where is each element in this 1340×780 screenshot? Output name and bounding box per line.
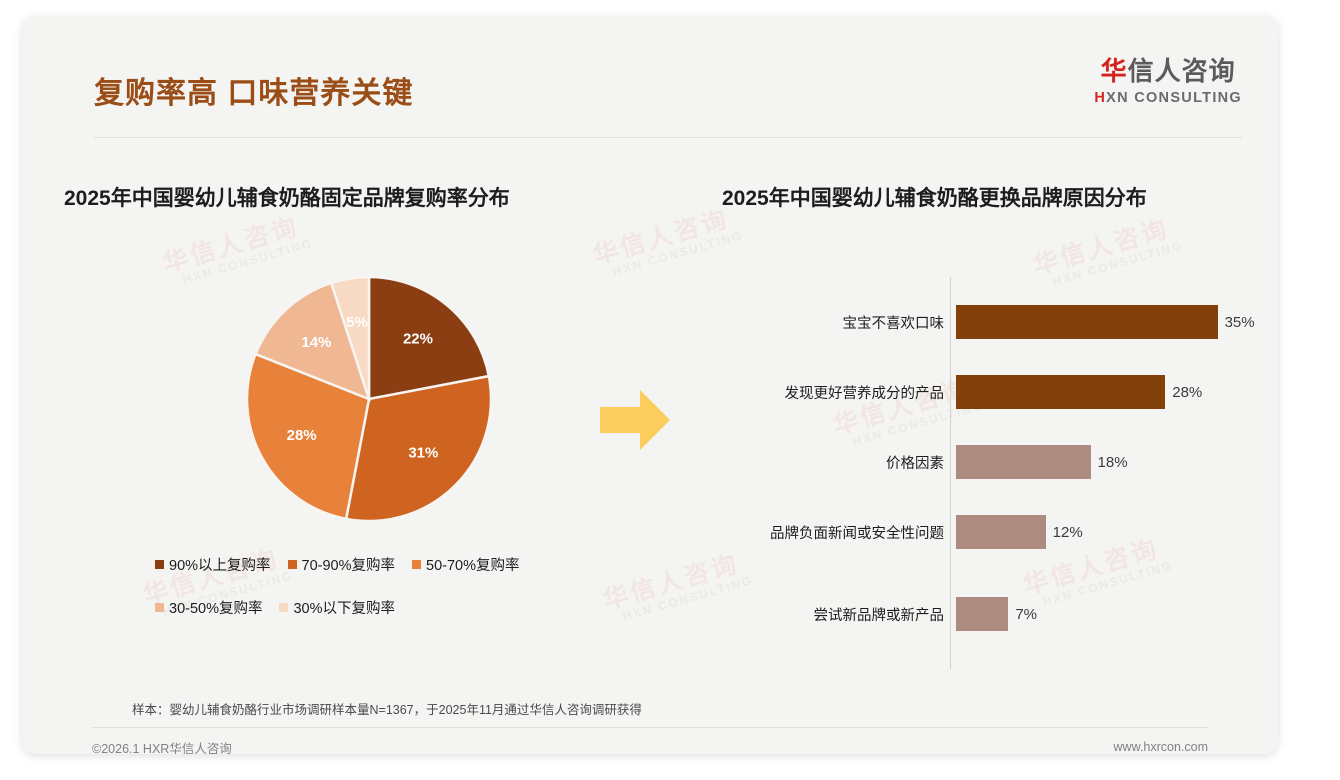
source-note: 样本：婴幼儿辅食奶酪行业市场调研样本量N=1367，于2025年11月通过华信人… — [132, 699, 642, 718]
pie-legend: 90%以上复购率70-90%复购率50-70%复购率 30-50%复购率30%以… — [155, 554, 585, 640]
legend-swatch — [288, 560, 297, 569]
bar-category-label: 发现更好营养成分的产品 — [722, 382, 950, 403]
company-logo: 华信人咨询 HXN CONSULTING — [1094, 58, 1242, 106]
legend-row: 30-50%复购率30%以下复购率 — [155, 597, 585, 618]
legend-label: 70-90%复购率 — [302, 554, 395, 575]
bar-category-label: 品牌负面新闻或安全性问题 — [722, 522, 950, 543]
bar-track: 35% — [956, 305, 1278, 339]
bar-track: 18% — [956, 445, 1278, 479]
pie-chart-svg: 22%31%28%14%5% — [244, 274, 494, 524]
bar-fill[interactable] — [956, 305, 1218, 339]
slide-canvas: 华信人咨询 HXN CONSULTING 华信人咨询 HXN CONSULTIN… — [22, 16, 1278, 754]
legend-item[interactable]: 50-70%复购率 — [412, 554, 519, 575]
legend-swatch — [412, 560, 421, 569]
pie-slice-label: 14% — [301, 334, 331, 351]
pie-chart: 22%31%28%14%5% — [244, 274, 494, 524]
bar-category-label: 价格因素 — [722, 452, 950, 473]
bar-track: 12% — [956, 515, 1278, 549]
bar-chart: 宝宝不喜欢口味35%发现更好营养成分的产品28%价格因素18%品牌负面新闻或安全… — [722, 271, 1278, 671]
bar-track: 28% — [956, 375, 1278, 409]
legend-label: 30%以下复购率 — [293, 597, 395, 618]
bar-row: 尝试新品牌或新产品7% — [722, 597, 1278, 631]
bar-row: 宝宝不喜欢口味35% — [722, 305, 1278, 339]
watermark-cn: 华信人咨询 — [588, 196, 741, 272]
website-link[interactable]: www.hxrcon.com — [1114, 740, 1208, 754]
logo-english: HXN CONSULTING — [1094, 91, 1242, 106]
logo-chinese: 华信人咨询 — [1094, 58, 1242, 84]
bar-fill[interactable] — [956, 375, 1165, 409]
slide-header: 复购率高 口味营养关键 华信人咨询 HXN CONSULTING — [22, 16, 1278, 120]
bar-category-label: 尝试新品牌或新产品 — [722, 604, 950, 625]
pie-slice-label: 28% — [287, 427, 317, 444]
bar-category-label: 宝宝不喜欢口味 — [722, 312, 950, 333]
bar-row: 价格因素18% — [722, 445, 1278, 479]
legend-swatch — [279, 603, 288, 612]
bar-value-label: 7% — [1015, 606, 1037, 623]
legend-swatch — [155, 603, 164, 612]
bar-fill[interactable] — [956, 515, 1046, 549]
bar-track: 7% — [956, 597, 1278, 631]
legend-item[interactable]: 30%以下复购率 — [279, 597, 395, 618]
pie-slice-label: 31% — [408, 444, 438, 461]
legend-item[interactable]: 90%以上复购率 — [155, 554, 271, 575]
bar-value-label: 35% — [1225, 314, 1255, 331]
bar-row: 品牌负面新闻或安全性问题12% — [722, 515, 1278, 549]
right-arrow-icon — [600, 388, 672, 457]
legend-label: 30-50%复购率 — [169, 597, 262, 618]
logo-cn-accent: 华 — [1101, 56, 1128, 86]
pie-slice-label: 22% — [403, 331, 433, 348]
bar-fill[interactable] — [956, 445, 1091, 479]
bar-value-label: 28% — [1172, 384, 1202, 401]
footer-divider — [92, 727, 1208, 728]
legend-item[interactable]: 70-90%复购率 — [288, 554, 395, 575]
bar-value-label: 18% — [1098, 454, 1128, 471]
page-title: 复购率高 口味营养关键 — [94, 68, 413, 112]
legend-row: 90%以上复购率70-90%复购率50-70%复购率 — [155, 554, 585, 575]
header-divider — [94, 137, 1242, 138]
legend-label: 50-70%复购率 — [426, 554, 519, 575]
right-chart-title: 2025年中国婴幼儿辅食奶酪更换品牌原因分布 — [722, 182, 1147, 212]
logo-cn-rest: 信人咨询 — [1128, 56, 1236, 86]
copyright-text: ©2026.1 HXR华信人咨询 — [92, 738, 232, 755]
watermark-cn: 华信人咨询 — [158, 204, 311, 280]
bar-value-label: 12% — [1053, 524, 1083, 541]
pie-slice-label: 5% — [346, 314, 368, 331]
bar-fill[interactable] — [956, 597, 1008, 631]
arrow-svg — [600, 388, 672, 452]
left-chart-title: 2025年中国婴幼儿辅食奶酪固定品牌复购率分布 — [64, 182, 510, 212]
legend-label: 90%以上复购率 — [169, 554, 271, 575]
logo-en-rest: XN CONSULTING — [1106, 90, 1242, 106]
bar-row: 发现更好营养成分的产品28% — [722, 375, 1278, 409]
logo-en-accent: H — [1094, 90, 1106, 106]
slide-footer: ©2026.1 HXR华信人咨询 www.hxrcon.com — [92, 734, 1208, 754]
legend-swatch — [155, 560, 164, 569]
legend-item[interactable]: 30-50%复购率 — [155, 597, 262, 618]
